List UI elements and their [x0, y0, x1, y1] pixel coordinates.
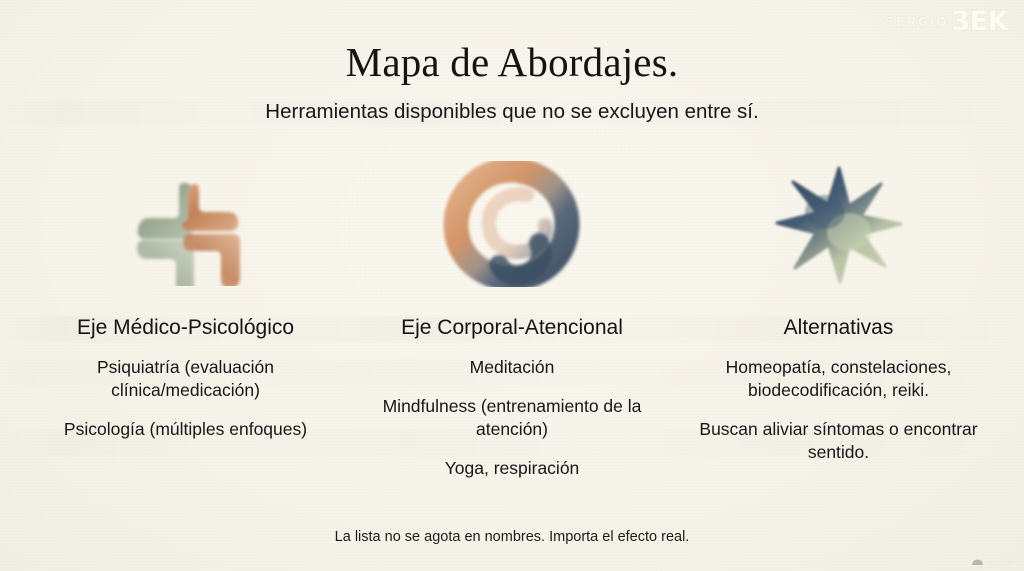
slide-canvas: SERGIO 3EK Mapa de Abordajes. Herramient… — [0, 0, 1024, 571]
icon-container — [112, 160, 260, 288]
column-item: Mindfulness (entrenamiento de la atenció… — [370, 395, 655, 441]
column-item: Meditación — [470, 356, 555, 379]
page-subtitle: Herramientas disponibles que no se exclu… — [0, 100, 1024, 125]
column-items: Homeopatía, constelaciones, biodecodific… — [681, 356, 996, 464]
icon-container — [441, 160, 583, 288]
page-title: Mapa de Abordajes. — [0, 42, 1024, 83]
watermark-arc-icon — [971, 557, 984, 566]
watercolor-enso-circle-icon — [441, 161, 583, 287]
column-alternativas: Alternativas Homeopatía, constelaciones,… — [681, 160, 996, 465]
column-items: Meditación Mindfulness (entrenamiento de… — [355, 356, 670, 480]
column-item: Psicología (múltiples enfoques) — [64, 418, 307, 441]
column-items: Psiquiatría (evaluación clínica/medicaci… — [28, 356, 343, 441]
column-corporal-atencional: Eje Corporal-Atencional Meditación Mindf… — [355, 160, 670, 481]
watermark-label: ········· — [988, 557, 1014, 566]
watercolor-eight-point-star-icon — [769, 162, 909, 286]
watercolor-pinwheel-cross-icon — [112, 162, 260, 286]
brand-logo-mark: 3EK — [951, 8, 1008, 35]
column-item: Buscan aliviar síntomas o encontrar sent… — [696, 418, 981, 464]
column-item: Homeopatía, constelaciones, biodecodific… — [696, 356, 981, 402]
corner-watermark: ········· — [971, 557, 1014, 566]
brand-logo-prefix: SERGIO — [885, 15, 948, 29]
icon-container — [769, 160, 909, 288]
brand-logo: SERGIO 3EK — [885, 8, 1008, 35]
column-title: Eje Corporal-Atencional — [401, 316, 623, 340]
approach-columns: Eje Médico-Psicológico Psiquiatría (eval… — [28, 160, 996, 481]
column-medico-psicologico: Eje Médico-Psicológico Psiquiatría (eval… — [28, 160, 343, 441]
column-title: Alternativas — [784, 316, 894, 340]
column-item: Psiquiatría (evaluación clínica/medicaci… — [43, 356, 328, 402]
column-item: Yoga, respiración — [445, 457, 580, 480]
column-title: Eje Médico-Psicológico — [77, 316, 294, 340]
footer-note: La lista no se agota en nombres. Importa… — [0, 529, 1024, 545]
